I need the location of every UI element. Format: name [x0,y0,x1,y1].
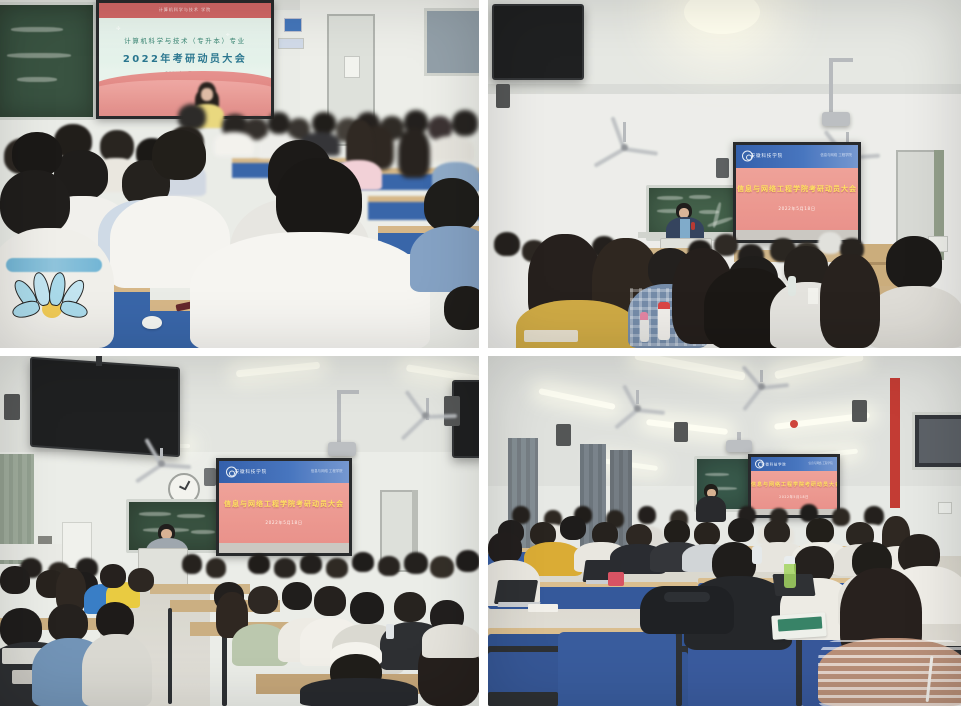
slide-date: 2022年5月18日 [736,206,858,212]
slide-header: 安徽科技学院 信息与网络 工程学院 [219,461,349,483]
projection-screen: 计算机科学与技术 学院 ✣ ✣ 计算机科学与技术（专升本）专业 2022年考研动… [96,0,274,119]
slide-org: 安徽科技学院 [235,469,267,475]
water-bottle [752,546,762,564]
ceiling-fan [608,400,666,416]
slide-bottom-left: 安徽科技学院 信息与网络 工程学院 信息与网络工程学院考研动员大会 2022年5… [219,461,349,553]
ceiling-fan [392,406,458,424]
speaker [852,400,867,422]
water-bottle [640,318,649,342]
water-bottle [658,306,670,340]
fire-pipe [890,378,900,508]
slide-footer [219,543,349,553]
wall-notice [284,18,302,32]
speaker [716,158,729,178]
laptop [494,580,538,604]
photo-bottom-left: 安徽科技学院 信息与网络 工程学院 信息与网络工程学院考研动员大会 2022年5… [0,356,479,706]
slide-right-mark: 信息与网络 工程学院 [820,153,852,158]
slide-body: 信息与网络工程学院考研动员大会 2022年5月18日 [751,471,837,509]
speaker [556,424,571,446]
window [424,8,479,76]
ceiling-fan [130,454,192,472]
paper [808,288,818,304]
photo-bottom-right: 安徽科技学院 信息与网络 工程学院 信息与网络工程学院考研动员大会 2022年5… [488,356,961,706]
slide-footer [751,509,837,515]
seat-back [558,632,676,706]
projection-screen: 安徽科技学院 信息与网络 工程学院 信息与网络工程学院考研动员大会 2022年5… [216,458,352,556]
ceiling-fan [590,136,658,158]
slide-right-mark: 信息与网络 工程学院 [311,469,343,474]
shirt-flower-icon [14,276,88,338]
slide-top-right: 安徽科技学院 信息与网络 工程学院 信息与网络工程学院考研动员大会 2022年5… [736,145,858,240]
red-badge [691,222,695,230]
water-bottle [788,276,796,296]
projection-screen: 安徽科技学院 信息与网络 工程学院 信息与网络工程学院考研动员大会 2022年5… [733,142,861,243]
fire-alarm-icon [790,420,798,428]
slide-header-strip: 计算机科学与技术 学院 [99,3,271,18]
notebook [608,572,624,586]
slide-right-mark: 信息与网络 工程学院 [809,462,833,466]
slide-header: 安徽科技学院 信息与网络 工程学院 [751,457,837,471]
projector [328,442,356,456]
projection-screen: 安徽科技学院 信息与网络 工程学院 信息与网络工程学院考研动员大会 2022年5… [748,454,840,518]
slide-org: 安徽科技学院 [761,461,786,466]
shirt-graphic-text [6,258,102,272]
photo-collage: 计算机科学与技术 学院 ✣ ✣ 计算机科学与技术（专升本）专业 2022年考研动… [0,0,961,706]
slide-line1: 计算机科学与技术（专升本）专业 [99,35,271,45]
ceiling-beam [488,84,961,94]
phone [386,624,394,639]
ceiling-fan [732,378,790,394]
slide-date: 2022年5月18日 [751,494,837,499]
slide-title: 信息与网络工程学院考研动员大会 [736,184,858,194]
projector [822,112,850,126]
wall-monitor [30,357,180,457]
wall-monitor [492,4,584,80]
computer-mouse [142,316,162,329]
slide-bottom-right: 安徽科技学院 信息与网络 工程学院 信息与网络工程学院考研动员大会 2022年5… [751,457,837,515]
slide-title: 信息与网络工程学院考研动员大会 [219,499,349,509]
speaker [674,422,688,442]
speaker [4,394,20,420]
projector [726,440,752,452]
bird-icon: ✣ [116,26,120,32]
slide-header: 安徽科技学院 信息与网络 工程学院 [736,145,858,168]
paper [528,604,558,612]
chalkboard [0,2,96,120]
slide-title: 信息与网络工程学院考研动员大会 [751,481,837,488]
photo-top-right: 安徽科技学院 信息与网络 工程学院 信息与网络工程学院考研动员大会 2022年5… [488,0,961,348]
slide-body: 信息与网络工程学院考研动员大会 2022年5月18日 [736,168,858,230]
photo-top-left: 计算机科学与技术 学院 ✣ ✣ 计算机科学与技术（专升本）专业 2022年考研动… [0,0,479,348]
slide-org: 安徽科技学院 [751,153,783,159]
camera [204,468,216,486]
water-bottle [784,562,796,588]
foreground-person-head [276,158,362,242]
slide-title: 2022年考研动员大会 [99,50,271,65]
slide-top-left: 计算机科学与技术 学院 ✣ ✣ 计算机科学与技术（专升本）专业 2022年考研动… [99,3,271,116]
foreground-person-shirt [190,232,430,348]
slide-date: 2022年5月18日 [219,520,349,526]
wall-poster [278,38,304,49]
window [912,412,961,470]
slide-body: 信息与网络工程学院考研动员大会 2022年5月18日 [219,483,349,543]
speaker [496,84,510,108]
shirt-text [524,330,578,342]
stripes [818,640,961,706]
